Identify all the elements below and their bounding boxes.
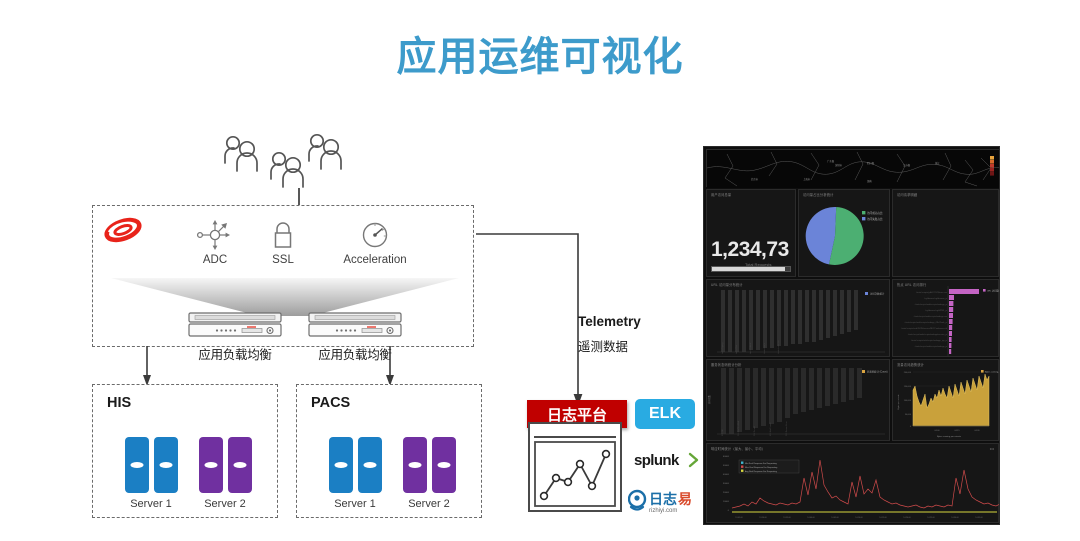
svg-text:北京市: 北京市	[751, 177, 759, 181]
svg-text:14:00:00: 14:00:00	[807, 517, 814, 519]
service-label: Acceleration	[315, 254, 435, 266]
load-balance-arrows-icon	[185, 218, 245, 252]
page-title: 应用运维可视化	[0, 24, 1080, 82]
svg-text:上海市: 上海市	[803, 177, 811, 181]
scroll-progress-bar[interactable]	[711, 266, 791, 272]
line-chart-window-icon	[530, 424, 620, 510]
svg-text:50000: 50000	[723, 465, 730, 467]
monitoring-dashboard[interactable]: 北京市上海市 广东省深圳市 四川省江苏省 浙江湖南 用户访问总量 1,234,7…	[703, 146, 1000, 525]
svg-text:304 Not Modified: 304 Not Modified	[737, 421, 740, 436]
bar-chart-top-urls: /static/scripts/g-ALPCNT-$core.css /cgi/…	[893, 280, 1000, 358]
server-label: Server 1	[115, 498, 187, 510]
panel-menu-icon[interactable]: •••	[990, 446, 994, 451]
svg-text:04:00: 04:00	[934, 430, 940, 432]
svg-text:10000: 10000	[723, 501, 730, 503]
svg-text:/static/app.js: /static/app.js	[763, 343, 766, 354]
server-group: Server 2	[393, 437, 465, 510]
splunk-logo: splunk	[634, 450, 700, 475]
svg-text:13:45:00: 13:45:00	[735, 517, 742, 519]
svg-text:访问失败占比: 访问失败占比	[867, 217, 883, 221]
svg-text:20000: 20000	[723, 492, 730, 494]
server-icon	[403, 437, 427, 493]
panel-title: 服务状态码统计分析	[711, 362, 742, 367]
svg-text:50,000: 50,000	[905, 414, 912, 416]
dashboard-panel-total-requests[interactable]: 用户访问总量 1,234,73 Total Requests	[706, 189, 796, 277]
svg-text:100,000: 100,000	[904, 400, 912, 402]
panel-title: 访问量占比分析统计	[803, 192, 834, 197]
svg-text:30000: 30000	[723, 483, 730, 485]
server-icon	[329, 437, 353, 493]
svg-text:150,000: 150,000	[904, 386, 912, 388]
svg-text:0: 0	[910, 426, 912, 428]
svg-text:14:20:00: 14:20:00	[903, 517, 910, 519]
service-label: ADC	[185, 254, 245, 266]
server-icon	[154, 437, 178, 493]
app-box-title: PACS	[311, 395, 350, 411]
server-icon	[358, 437, 382, 493]
users-group-icon	[304, 132, 350, 178]
svg-text:Bytes per minute: Bytes per minute	[897, 394, 900, 410]
telemetry-flow: Telemetry 遥测数据 日志平台 ELK splunk	[500, 110, 710, 540]
svg-text:/static/scripts/web/scripts/we: /static/scripts/web/scripts/webapp/servi…	[908, 333, 947, 336]
pie-chart: 访问成功占比 访问失败占比	[799, 190, 891, 278]
edge-services-box: ADC SSL	[92, 205, 474, 347]
dashboard-panel-url-hits[interactable]: URL 访问量分布统计 /api/v1/query /api/v1/li	[706, 279, 890, 357]
svg-text:Bytes coming_the_avg...: Bytes coming_the_avg...	[985, 370, 1000, 373]
telemetry-connector	[476, 210, 606, 415]
padlock-icon	[253, 218, 313, 252]
users-group-icon	[220, 134, 266, 180]
dashboard-panel-status-codes[interactable]: 服务状态码统计分析 200 OK 304 Not Modified 302	[706, 359, 890, 441]
server-label: Server 2	[393, 498, 465, 510]
dashboard-panel-top-detail[interactable]: 访问请求明细	[892, 189, 999, 277]
svg-text:江苏省: 江苏省	[903, 163, 911, 167]
telemetry-label-en: Telemetry	[578, 314, 641, 329]
app-box-pacs: PACS Server 1 Server 2	[296, 384, 482, 518]
svg-text:40000: 40000	[723, 474, 730, 476]
svg-text:状态码统计 (Count): 状态码统计 (Count)	[867, 370, 888, 374]
rack-appliance-icon	[307, 312, 403, 338]
server-icon	[199, 437, 223, 493]
panel-title: 热点 URL 访问排行	[897, 282, 926, 287]
dashboard-panel-top-urls[interactable]: 热点 URL 访问排行 /static/scripts/g-ALPCN	[892, 279, 999, 357]
svg-text:/static/scripts/web/JSON/servi: /static/scripts/web/JSON/service/BDPConf…	[901, 327, 947, 330]
map-chart: 北京市上海市 广东省深圳市 四川省江苏省 浙江湖南	[707, 150, 1000, 188]
bar-chart-url-hits: /api/v1/query /api/v1/list /api/v1/detai…	[707, 280, 891, 358]
svg-text:/static/scripts/web/scripts/we: /static/scripts/web/scripts/webapp_i18n/…	[905, 321, 947, 324]
server-icon	[432, 437, 456, 493]
dashboard-panel-response-time[interactable]: 响应时间统计（最大、最小、平均） ••• 6000050000 40000300…	[706, 443, 999, 523]
panel-title: 用户访问总量	[711, 192, 731, 197]
telemetry-label-zh: 遥测数据	[578, 336, 628, 355]
app-box-his: HIS Server 1 Server 2	[92, 384, 278, 518]
server-group: Server 1	[319, 437, 391, 510]
svg-text:14:35:00: 14:35:00	[975, 517, 982, 519]
svg-text:splunk: splunk	[634, 452, 680, 469]
svg-text:200 OK: 200 OK	[722, 429, 724, 436]
svg-text:/static/scripts/g-ALPCNT-$core: /static/scripts/g-ALPCNT-$core.css	[916, 291, 947, 294]
svg-text:/static/scripts/web/scripts/we: /static/scripts/web/scripts/webapp_js	[915, 345, 947, 348]
service-label: SSL	[253, 254, 313, 266]
svg-text:200,000: 200,000	[904, 372, 912, 374]
svg-text:rizhiyi.com: rizhiyi.com	[649, 508, 677, 514]
svg-text:URL 访问量统计: URL 访问量统计	[987, 288, 1000, 292]
svg-text:/api/v1/list: /api/v1/list	[735, 345, 738, 354]
svg-text:302 Found: 302 Found	[754, 426, 756, 436]
log-platform-chart-card	[528, 422, 622, 512]
service-acceleration: Acceleration	[315, 218, 435, 266]
svg-text:14:05:00: 14:05:00	[831, 517, 838, 519]
dashboard-panel-request-ratio[interactable]: 访问量占比分析统计 访问成功占比 访问失败占比	[798, 189, 890, 277]
server-icon	[228, 437, 252, 493]
svg-text:04:15: 04:15	[954, 430, 960, 432]
svg-text:Max Real Response For Requesti: Max Real Response For Requesting	[745, 466, 777, 469]
svg-text:/cgi/browse/cgi/browse_js: /cgi/browse/cgi/browse_js	[924, 298, 947, 300]
app-box-title: HIS	[107, 395, 131, 411]
svg-text:/static/scripts/web/scripts/we: /static/scripts/web/scripts/webapp_jsp_j…	[911, 339, 947, 342]
svg-text:60000: 60000	[723, 456, 730, 458]
svg-text:Min Real Response For Requesti: Min Real Response For Requesting	[745, 462, 777, 465]
server-label: Server 1	[319, 498, 391, 510]
dashboard-panel-traffic-area[interactable]: 流量访问趋势统计 200,000150,000 100,00050,000 0 …	[892, 359, 999, 441]
svg-text:/api/v1/query: /api/v1/query	[722, 343, 724, 354]
panel-title: 响应时间统计（最大、最小、平均）	[711, 446, 765, 451]
svg-text:Bytes coming per minute: Bytes coming per minute	[937, 435, 962, 438]
svg-text:/cgi/browse/cgi/HTML_js: /cgi/browse/cgi/HTML_js	[925, 310, 947, 312]
svg-text:0: 0	[728, 510, 730, 512]
svg-text:13:50:00: 13:50:00	[759, 517, 766, 519]
svg-text:14:15:00: 14:15:00	[879, 517, 886, 519]
svg-text:Avg Real Response For Requesti: Avg Real Response For Requesting	[745, 470, 777, 473]
svg-text:/static/scripts/web/scripts/we: /static/scripts/web/scripts/webapp.css	[914, 315, 947, 318]
svg-text:访问次数: 访问次数	[707, 394, 711, 404]
svg-text:13:55:00: 13:55:00	[783, 517, 790, 519]
svg-text:广东省: 广东省	[827, 159, 835, 163]
svg-text:湖南: 湖南	[867, 179, 872, 183]
akamai-spiral-logo	[101, 212, 145, 248]
svg-text:04:30: 04:30	[974, 430, 980, 432]
svg-text:深圳市: 深圳市	[835, 163, 843, 167]
rizhiyi-logo: 日志 易 rizhiyi.com	[628, 488, 706, 519]
bar-chart-status-codes: 200 OK 304 Not Modified 302 Found 404 No…	[707, 360, 891, 442]
speedometer-icon	[315, 218, 435, 252]
svg-text:500 Server Error: 500 Server Error	[786, 421, 788, 436]
panel-title: URL 访问量分布统计	[711, 282, 743, 287]
svg-text:易: 易	[678, 491, 692, 507]
panel-title: 访问请求明细	[897, 192, 917, 197]
users-group	[218, 132, 348, 192]
server-group: Server 2	[189, 437, 261, 510]
svg-text:/static/scripts/web/scripts/we: /static/scripts/web/scripts/webapp_js	[915, 303, 947, 306]
slide-root: 应用运维可视化	[0, 0, 1080, 541]
server-icon	[125, 437, 149, 493]
dashboard-panel-map[interactable]: 北京市上海市 广东省深圳市 四川省江苏省 浙江湖南	[706, 149, 999, 187]
line-chart-response-time: 6000050000 4000030000 2000010000 0 13:45…	[707, 444, 1000, 524]
svg-text:访问成功占比: 访问成功占比	[867, 211, 883, 215]
service-adc: ADC	[185, 218, 245, 266]
area-chart-traffic: 200,000150,000 100,00050,000 0 04:0004:1…	[893, 360, 1000, 442]
svg-text:日志: 日志	[649, 491, 677, 507]
svg-text:14:30:00: 14:30:00	[951, 517, 958, 519]
server-label: Server 2	[189, 498, 261, 510]
server-group: Server 1	[115, 437, 187, 510]
elk-badge[interactable]: ELK	[635, 399, 695, 429]
total-requests-value: 1,234,73	[711, 238, 789, 262]
svg-text:14:10:00: 14:10:00	[855, 517, 862, 519]
svg-text:14:25:00: 14:25:00	[927, 517, 934, 519]
svg-text:访问次数统计: 访问次数统计	[870, 292, 885, 296]
rack-appliance-icon	[187, 312, 283, 338]
service-ssl: SSL	[253, 218, 313, 266]
svg-text:四川省: 四川省	[867, 161, 875, 165]
svg-text:浙江: 浙江	[935, 161, 940, 165]
panel-title: 流量访问趋势统计	[897, 362, 924, 367]
